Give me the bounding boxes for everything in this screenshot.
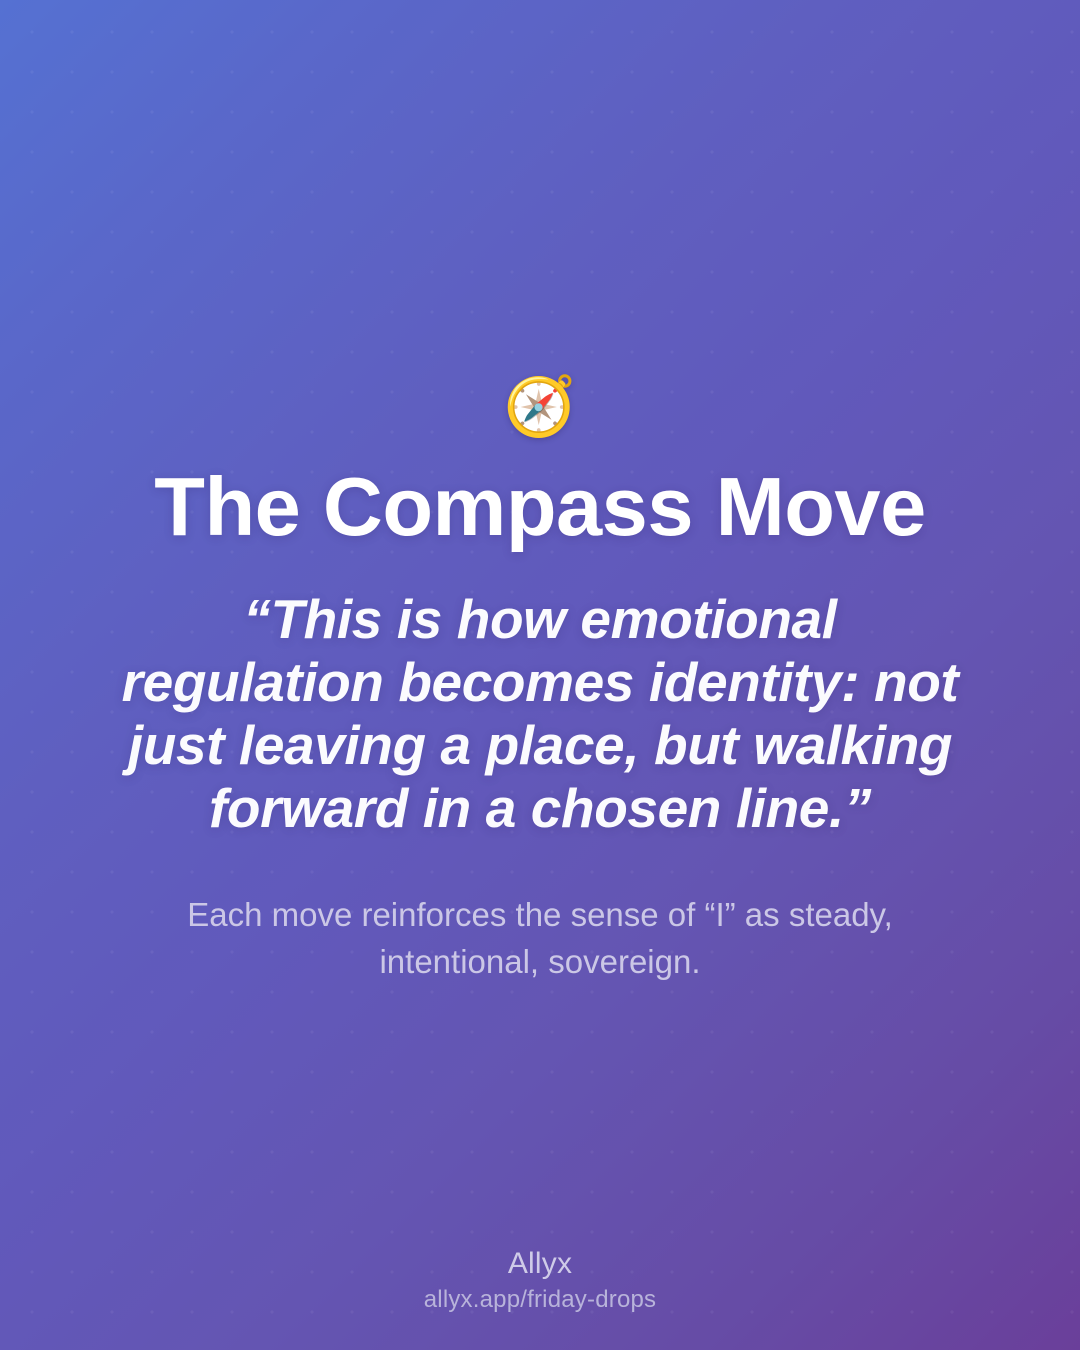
- card-content: 🧭 The Compass Move “This is how emotiona…: [0, 0, 1080, 1350]
- compass-icon: 🧭: [504, 373, 576, 439]
- quote-card: 🧭 The Compass Move “This is how emotiona…: [0, 0, 1080, 1350]
- page-title: The Compass Move: [94, 465, 985, 548]
- brand-name: Allyx: [508, 1247, 572, 1281]
- quote-text: “This is how emotional regulation become…: [0, 588, 1080, 840]
- card-footer: Allyx allyx.app/friday-drops: [0, 1247, 1080, 1314]
- brand-url[interactable]: allyx.app/friday-drops: [424, 1286, 657, 1314]
- supporting-text: Each move reinforces the sense of “I” as…: [0, 892, 1080, 986]
